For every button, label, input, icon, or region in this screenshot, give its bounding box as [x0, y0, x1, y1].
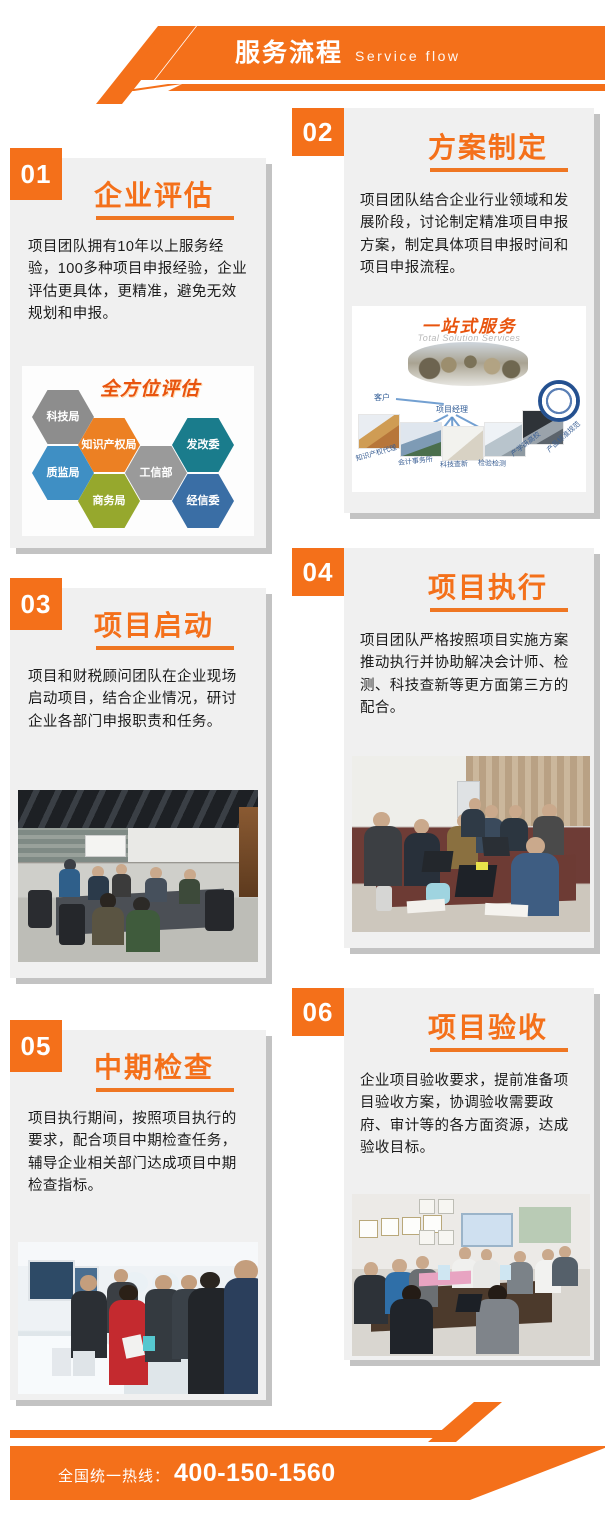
title-underline	[96, 216, 234, 220]
one-stop-service-diagram: 一站式服务 Total Solution Services 客户 项目经理 知识…	[352, 306, 586, 492]
title-underline	[430, 168, 568, 172]
step-number-badge: 05	[10, 1020, 62, 1072]
page-header: 服务流程 Service flow	[0, 0, 605, 100]
hex-diagram-caption: 全方位评估	[100, 374, 200, 401]
step-number-badge: 03	[10, 578, 62, 630]
step-number-badge: 01	[10, 148, 62, 200]
card-title: 中期检查	[94, 1046, 214, 1086]
card-description: 项目团队结合企业行业领域和发展阶段，讨论制定精准项目申报方案，制定具体项目申报时…	[360, 190, 582, 280]
one-stop-node-photo	[400, 422, 442, 457]
step-number-badge: 04	[292, 548, 344, 596]
one-stop-node-label: 科技查新	[440, 459, 468, 470]
one-stop-node-label: 检验检测	[478, 458, 506, 469]
card-description: 项目和财税顾问团队在企业现场启动项目，结合企业情况，研讨企业各部门申报职责和任务…	[28, 666, 250, 733]
title-underline	[430, 1048, 568, 1052]
one-stop-arrow	[396, 398, 444, 405]
step-card-03: 03 项目启动 项目和财税顾问团队在企业现场启动项目，结合企业情况，研讨企业各部…	[10, 578, 282, 978]
card-photo	[18, 790, 258, 962]
card-photo	[352, 1194, 590, 1356]
card-title: 项目验收	[428, 1006, 548, 1046]
service-flow-page: 服务流程 Service flow 01 企业评估 项目团队拥有10年以上服务经…	[0, 0, 605, 1538]
page-footer: 全国统一热线： 400-150-1560	[0, 1430, 605, 1520]
card-title: 项目启动	[94, 604, 214, 644]
certification-seal-icon	[538, 380, 580, 422]
card-description: 项目执行期间，按照项目执行的要求，配合项目中期检查任务，辅导企业相关部门达成项目…	[28, 1108, 250, 1198]
hex-node-label: 知识产权局	[82, 439, 137, 452]
hotline-label: 全国统一热线：	[58, 1465, 170, 1486]
step-card-05: 05 中期检查 项目执行期间，按照项目执行的要求，配合项目中期检查任务，辅导企业…	[10, 1020, 282, 1400]
step-card-06: 06 项目验收 企业项目验收要求，提前准备项目验收方案，协调验收需要政府、审计等…	[292, 988, 592, 1368]
card-title: 项目执行	[428, 566, 548, 606]
header-banner: 服务流程 Service flow	[155, 26, 605, 80]
card-title: 方案制定	[428, 126, 548, 166]
step-card-02: 02 方案制定 项目团队结合企业行业领域和发展阶段，讨论制定精准项目申报方案，制…	[292, 108, 592, 518]
card-description: 项目团队严格按照项目实施方案推动执行并协助解决会计师、检测、科技查新等更方面第三…	[360, 630, 582, 720]
step-card-01: 01 企业评估 项目团队拥有10年以上服务经验，100多种项目申报经验，企业评估…	[10, 148, 282, 548]
header-underline	[168, 84, 605, 91]
card-title: 企业评估	[94, 174, 214, 214]
card-description: 项目团队拥有10年以上服务经验，100多种项目申报经验，企业评估更具体，更精准，…	[28, 236, 250, 326]
footer-top-line	[10, 1430, 470, 1438]
title-underline	[96, 1088, 234, 1092]
title-underline	[430, 608, 568, 612]
step-number-badge: 02	[292, 108, 344, 156]
step-number-badge: 06	[292, 988, 344, 1036]
title-underline	[96, 646, 234, 650]
footer-diagonal-accent	[428, 1402, 605, 1442]
step-card-04: 04 项目执行 项目团队严格按照项目实施方案推动执行并协助解决会计师、检测、科技…	[292, 548, 592, 958]
one-stop-manager-label: 项目经理	[436, 404, 468, 415]
assessment-hex-diagram: 全方位评估 科技局 知识产权局 发改委 质监局 工信部 商务局 经信委	[22, 366, 254, 536]
card-photo	[18, 1242, 258, 1394]
card-description: 企业项目验收要求，提前准备项目验收方案，协调验收需要政府、审计等的各方面资源，达…	[360, 1070, 582, 1160]
hotline-bar: 全国统一热线： 400-150-1560	[10, 1446, 605, 1500]
card-photo	[352, 756, 590, 932]
page-subtitle: Service flow	[355, 48, 460, 64]
hotline-number[interactable]: 400-150-1560	[174, 1459, 336, 1488]
one-stop-client-label: 客户	[374, 392, 390, 403]
one-stop-node-photo	[442, 426, 484, 461]
one-stop-node-label: 会计事务所	[397, 454, 433, 468]
one-stop-hero-photo	[408, 342, 528, 386]
page-title: 服务流程	[235, 41, 343, 66]
